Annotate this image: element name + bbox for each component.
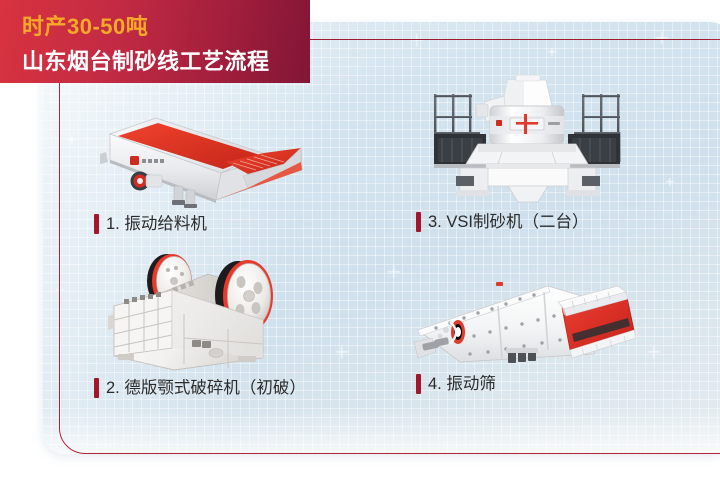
poster-canvas: 时产30-50吨 山东烟台制砂线工艺流程 bbox=[0, 0, 720, 477]
equipment-item-4[interactable]: 4. 振动筛 bbox=[412, 268, 642, 394]
left-red-divider bbox=[59, 83, 60, 405]
caption-3: 3. VSI制砂机（二台） bbox=[416, 212, 642, 232]
caption-bar-icon bbox=[94, 378, 99, 398]
banner-line2: 山东烟台制砂线工艺流程 bbox=[22, 44, 270, 76]
title-banner: 时产30-50吨 山东烟台制砂线工艺流程 bbox=[0, 0, 310, 83]
caption-4-label: 4. 振动筛 bbox=[428, 376, 496, 393]
panel-bottom-fade bbox=[42, 408, 720, 454]
header-red-rule bbox=[300, 39, 710, 40]
caption-2-label: 2. 德版颚式破碎机（初破） bbox=[106, 380, 306, 397]
caption-3-label: 3. VSI制砂机（二台） bbox=[428, 214, 588, 231]
caption-bar-icon bbox=[416, 212, 421, 232]
caption-1: 1. 振动给料机 bbox=[94, 214, 323, 234]
caption-1-label: 1. 振动给料机 bbox=[106, 216, 207, 233]
caption-2: 2. 德版颚式破碎机（初破） bbox=[94, 378, 348, 398]
vsi-sand-maker-image bbox=[412, 72, 642, 204]
vibrating-screen-image bbox=[412, 268, 642, 368]
caption-bar-icon bbox=[416, 374, 421, 394]
caption-bar-icon bbox=[94, 214, 99, 234]
banner-line1: 时产30-50吨 bbox=[22, 9, 148, 41]
equipment-item-2[interactable]: 2. 德版颚式破碎机（初破） bbox=[88, 252, 348, 398]
jaw-crusher-image bbox=[88, 252, 348, 374]
vibrating-feeder-image bbox=[88, 104, 323, 208]
equipment-item-3[interactable]: 3. VSI制砂机（二台） bbox=[412, 72, 642, 232]
equipment-item-1[interactable]: 1. 振动给料机 bbox=[88, 104, 323, 234]
caption-4: 4. 振动筛 bbox=[416, 374, 642, 394]
